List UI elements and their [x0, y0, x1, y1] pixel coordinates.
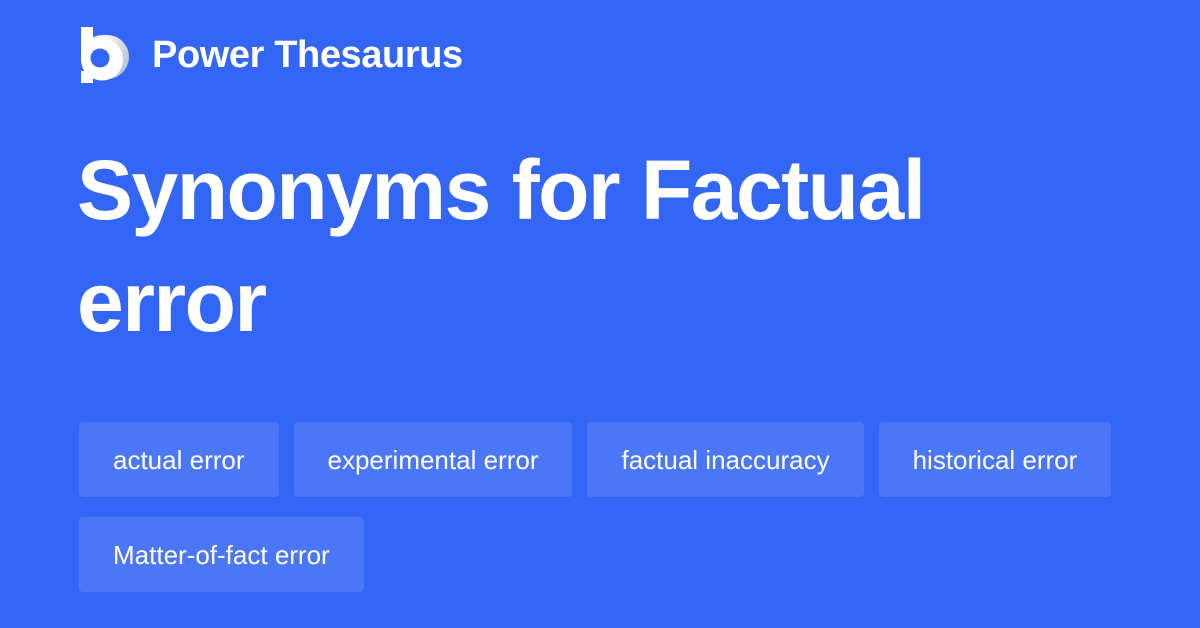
brand-wordmark: Power Thesaurus [152, 36, 463, 74]
social-share-card: Power Thesaurus Synonyms for Factual err… [0, 0, 1200, 628]
power-thesaurus-b-logo-icon [79, 27, 131, 83]
synonym-chip[interactable]: factual inaccuracy [587, 422, 863, 497]
synonym-chip[interactable]: Matter-of-fact error [79, 517, 364, 592]
page-title-line-1: Synonyms for Factual [77, 143, 925, 237]
brand-logo[interactable]: Power Thesaurus [79, 26, 463, 84]
synonym-chip[interactable]: historical error [879, 422, 1112, 497]
page-title-line-2: error [77, 255, 266, 349]
synonym-chip[interactable]: experimental error [294, 422, 573, 497]
page-title: Synonyms for Factual error [77, 134, 1077, 358]
synonym-chip-list: actual error experimental error factual … [79, 422, 1129, 592]
synonym-chip[interactable]: actual error [79, 422, 279, 497]
